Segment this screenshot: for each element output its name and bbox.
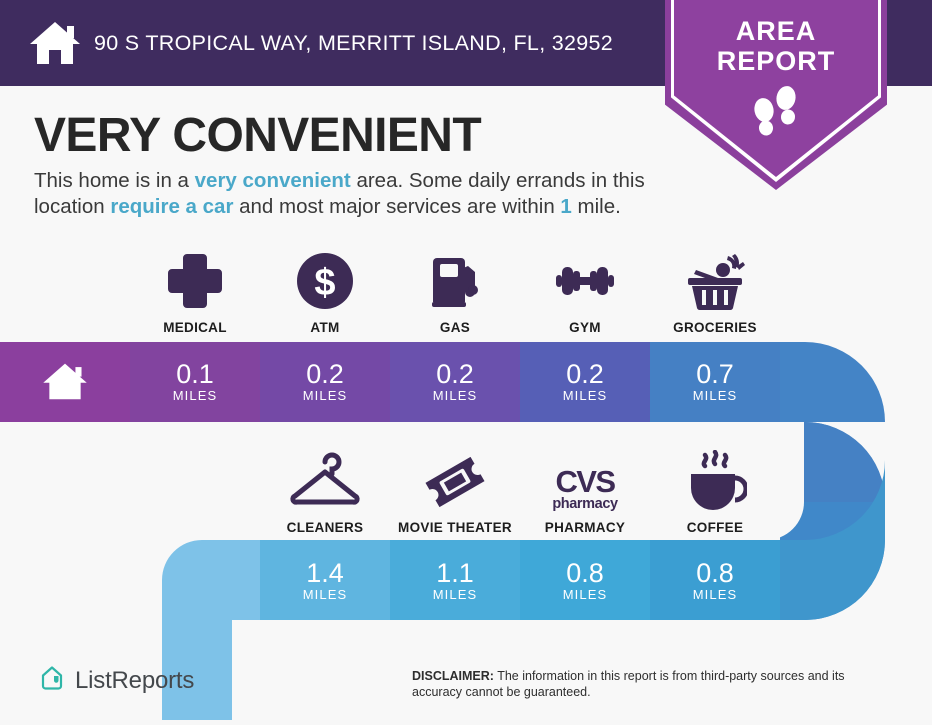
row2-value-cleaners: 1.4 MILES bbox=[260, 540, 390, 620]
value-unit: MILES bbox=[693, 388, 738, 403]
value-number: 0.2 bbox=[566, 360, 604, 389]
badge-title-line1: AREA bbox=[665, 16, 887, 46]
value-unit: MILES bbox=[693, 587, 738, 602]
row2-icon-row: CLEANERS MOVIE THEATER CVS pharmacy bbox=[260, 450, 780, 535]
page-description: This home is in a very convenient area. … bbox=[34, 168, 674, 220]
gas-pump-icon bbox=[424, 250, 486, 312]
desc-highlight-very-convenient: very convenient bbox=[195, 169, 351, 192]
medical-cross-icon bbox=[164, 250, 226, 312]
category-label: PHARMACY bbox=[545, 520, 625, 535]
dumbbell-icon bbox=[554, 250, 616, 312]
category-label: MOVIE THEATER bbox=[398, 520, 512, 535]
value-unit: MILES bbox=[433, 388, 478, 403]
category-gas: GAS bbox=[390, 250, 520, 335]
value-number: 0.7 bbox=[696, 360, 734, 389]
category-label: ATM bbox=[310, 320, 339, 335]
brand-name: ListReports bbox=[75, 667, 194, 695]
desc-highlight-mileage: 1 bbox=[560, 195, 571, 218]
desc-highlight-require-a-car: require a car bbox=[110, 195, 233, 218]
value-unit: MILES bbox=[303, 388, 348, 403]
category-medical: MEDICAL bbox=[130, 250, 260, 335]
row1-value-medical: 0.1 MILES bbox=[130, 340, 260, 422]
category-movie-theater: MOVIE THEATER bbox=[390, 450, 520, 535]
area-report-infographic: 90 S TROPICAL WAY, MERRITT ISLAND, FL, 3… bbox=[0, 0, 932, 720]
footprints-icon bbox=[665, 84, 887, 147]
coffee-cup-icon bbox=[683, 450, 747, 512]
clothes-hanger-icon bbox=[289, 450, 361, 512]
category-label: GAS bbox=[440, 320, 470, 335]
category-label: COFFEE bbox=[687, 520, 744, 535]
row2-value-pharmacy: 0.8 MILES bbox=[520, 540, 650, 620]
property-address: 90 S TROPICAL WAY, MERRITT ISLAND, FL, 3… bbox=[94, 31, 613, 56]
value-number: 1.4 bbox=[306, 559, 344, 588]
row1-value-groceries: 0.7 MILES bbox=[650, 340, 780, 422]
dollar-circle-icon: $ bbox=[294, 250, 356, 312]
value-unit: MILES bbox=[563, 587, 608, 602]
listreports-brand[interactable]: ListReports bbox=[38, 664, 194, 697]
cvs-wordmark: CVS bbox=[552, 467, 617, 497]
snake-right-gap bbox=[885, 340, 932, 720]
value-number: 0.8 bbox=[696, 559, 734, 588]
category-label: GROCERIES bbox=[673, 320, 757, 335]
badge-title-line2: REPORT bbox=[665, 46, 887, 76]
value-unit: MILES bbox=[303, 587, 348, 602]
page-title: VERY CONVENIENT bbox=[34, 108, 481, 163]
svg-text:$: $ bbox=[314, 262, 335, 304]
listreports-house-icon bbox=[38, 664, 66, 697]
cvs-subwordmark: pharmacy bbox=[552, 497, 617, 512]
disclaimer: DISCLAIMER: The information in this repo… bbox=[412, 668, 882, 700]
category-cleaners: CLEANERS bbox=[260, 450, 390, 535]
grocery-basket-icon bbox=[682, 250, 748, 312]
badge-title: AREA REPORT bbox=[665, 16, 887, 76]
row1-icon-row: MEDICAL $ ATM bbox=[130, 250, 780, 335]
value-number: 1.1 bbox=[436, 559, 474, 588]
category-pharmacy: CVS pharmacy PHARMACY bbox=[520, 450, 650, 535]
value-unit: MILES bbox=[563, 388, 608, 403]
value-unit: MILES bbox=[433, 587, 478, 602]
row2-value-coffee: 0.8 MILES bbox=[650, 540, 780, 620]
disclaimer-label: DISCLAIMER: bbox=[412, 669, 494, 683]
value-unit: MILES bbox=[173, 388, 218, 403]
category-label: MEDICAL bbox=[163, 320, 227, 335]
desc-part-3: and most major services are within bbox=[233, 195, 560, 218]
category-atm: $ ATM bbox=[260, 250, 390, 335]
category-groceries: GROCERIES bbox=[650, 250, 780, 335]
value-number: 0.2 bbox=[306, 360, 344, 389]
row1-value-gas: 0.2 MILES bbox=[390, 340, 520, 422]
value-number: 0.8 bbox=[566, 559, 604, 588]
row1-home-marker bbox=[0, 340, 130, 422]
row2-value-movie-theater: 1.1 MILES bbox=[390, 540, 520, 620]
value-number: 0.1 bbox=[176, 360, 214, 389]
category-coffee: COFFEE bbox=[650, 450, 780, 535]
value-number: 0.2 bbox=[436, 360, 474, 389]
movie-ticket-icon bbox=[423, 450, 487, 512]
desc-part-4: mile. bbox=[572, 195, 621, 218]
category-label: GYM bbox=[569, 320, 601, 335]
home-icon bbox=[28, 19, 82, 67]
area-report-badge: AREA REPORT bbox=[665, 0, 887, 190]
category-label: CLEANERS bbox=[287, 520, 364, 535]
desc-part-1: This home is in a bbox=[34, 169, 195, 192]
category-gym: GYM bbox=[520, 250, 650, 335]
cvs-pharmacy-logo: CVS pharmacy bbox=[552, 450, 617, 512]
row1-value-atm: 0.2 MILES bbox=[260, 340, 390, 422]
row1-value-gym: 0.2 MILES bbox=[520, 340, 650, 422]
